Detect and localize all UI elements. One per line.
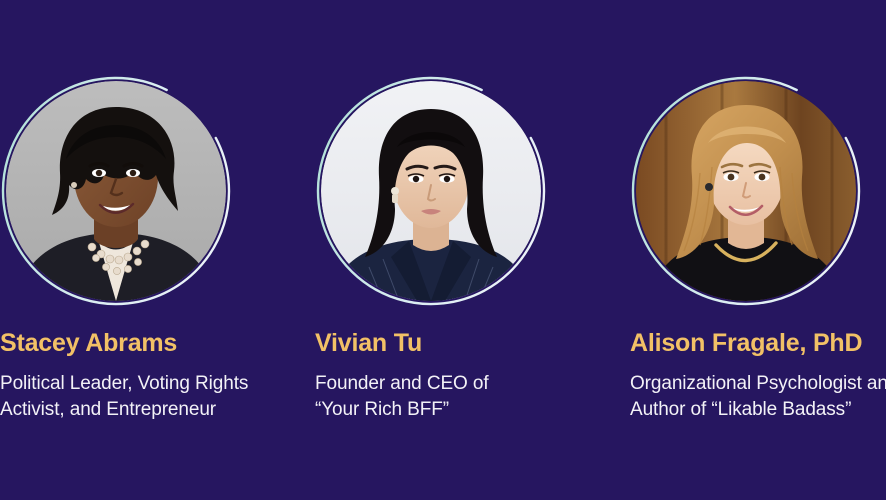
speaker-card-1[interactable]: Stacey Abrams Political Leader, Voting R…: [0, 0, 220, 500]
speaker-card-2[interactable]: Vivian Tu Founder and CEO of “Your Rich …: [215, 0, 535, 500]
avatar: [630, 75, 862, 307]
speaker-card-3[interactable]: Alison Fragale, PhD Organizational Psych…: [530, 0, 850, 500]
avatar-ring-icon: [589, 34, 886, 348]
avatar: [0, 75, 232, 307]
speaker-role: Organizational Psychologist and Author o…: [630, 371, 886, 423]
speaker-name: Alison Fragale, PhD: [630, 328, 886, 358]
avatar: [315, 75, 547, 307]
speaker-lineup: Stacey Abrams Political Leader, Voting R…: [0, 0, 886, 500]
